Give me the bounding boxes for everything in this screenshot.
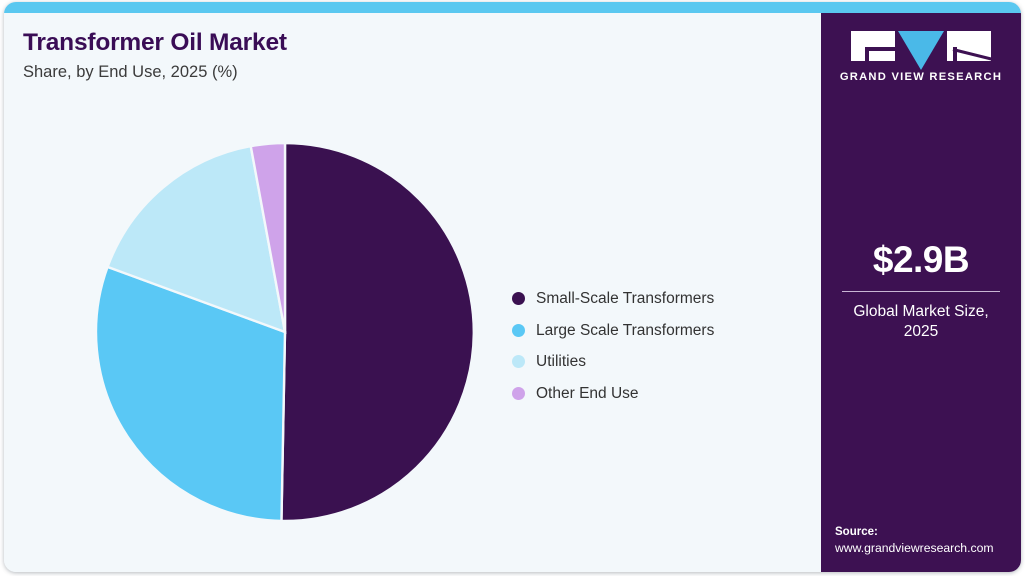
legend-label: Other End Use xyxy=(536,386,639,402)
page-subtitle: Share, by End Use, 2025 (%) xyxy=(23,63,743,83)
chart-canvas: Transformer Oil Market Share, by End Use… xyxy=(0,0,1025,576)
logo-letter-g-icon xyxy=(851,31,895,61)
chart-legend: Small-Scale TransformersLarge Scale Tran… xyxy=(512,283,812,409)
pie-slice[interactable] xyxy=(281,143,473,521)
legend-swatch-icon xyxy=(512,324,525,337)
pie-chart-svg xyxy=(95,142,475,522)
brand-sidebar: GRAND VIEW RESEARCH $2.9B Global Market … xyxy=(821,13,1021,572)
legend-item[interactable]: Large Scale Transformers xyxy=(512,315,812,347)
logo-letter-v-triangle-icon xyxy=(898,31,944,70)
legend-label: Utilities xyxy=(536,354,586,370)
legend-item[interactable]: Utilities xyxy=(512,346,812,378)
market-size-block: $2.9B Global Market Size, 2025 xyxy=(821,241,1021,343)
legend-swatch-icon xyxy=(512,355,525,368)
legend-label: Large Scale Transformers xyxy=(536,323,714,339)
gvr-logo: GRAND VIEW RESEARCH xyxy=(821,31,1021,83)
source-block: Source: www.grandviewresearch.com xyxy=(835,524,1021,558)
market-size-value: $2.9B xyxy=(835,241,1007,280)
page-title: Transformer Oil Market xyxy=(23,29,743,57)
chart-panel: Transformer Oil Market Share, by End Use… xyxy=(4,13,821,572)
market-size-label: Global Market Size, 2025 xyxy=(835,302,1007,343)
divider xyxy=(842,291,1000,292)
legend-item[interactable]: Other End Use xyxy=(512,378,812,410)
legend-label: Small-Scale Transformers xyxy=(536,291,714,307)
infographic-card: Transformer Oil Market Share, by End Use… xyxy=(4,2,1021,572)
legend-swatch-icon xyxy=(512,387,525,400)
legend-swatch-icon xyxy=(512,292,525,305)
source-title: Source: xyxy=(835,524,1021,541)
legend-item[interactable]: Small-Scale Transformers xyxy=(512,283,812,315)
top-accent-bar xyxy=(4,2,1021,13)
logo-marks xyxy=(821,31,1021,63)
source-url[interactable]: www.grandviewresearch.com xyxy=(835,540,1021,558)
logo-letter-r-icon xyxy=(947,31,991,61)
pie-chart xyxy=(95,142,475,522)
logo-wordmark: GRAND VIEW RESEARCH xyxy=(821,71,1021,83)
title-block: Transformer Oil Market Share, by End Use… xyxy=(23,29,743,83)
